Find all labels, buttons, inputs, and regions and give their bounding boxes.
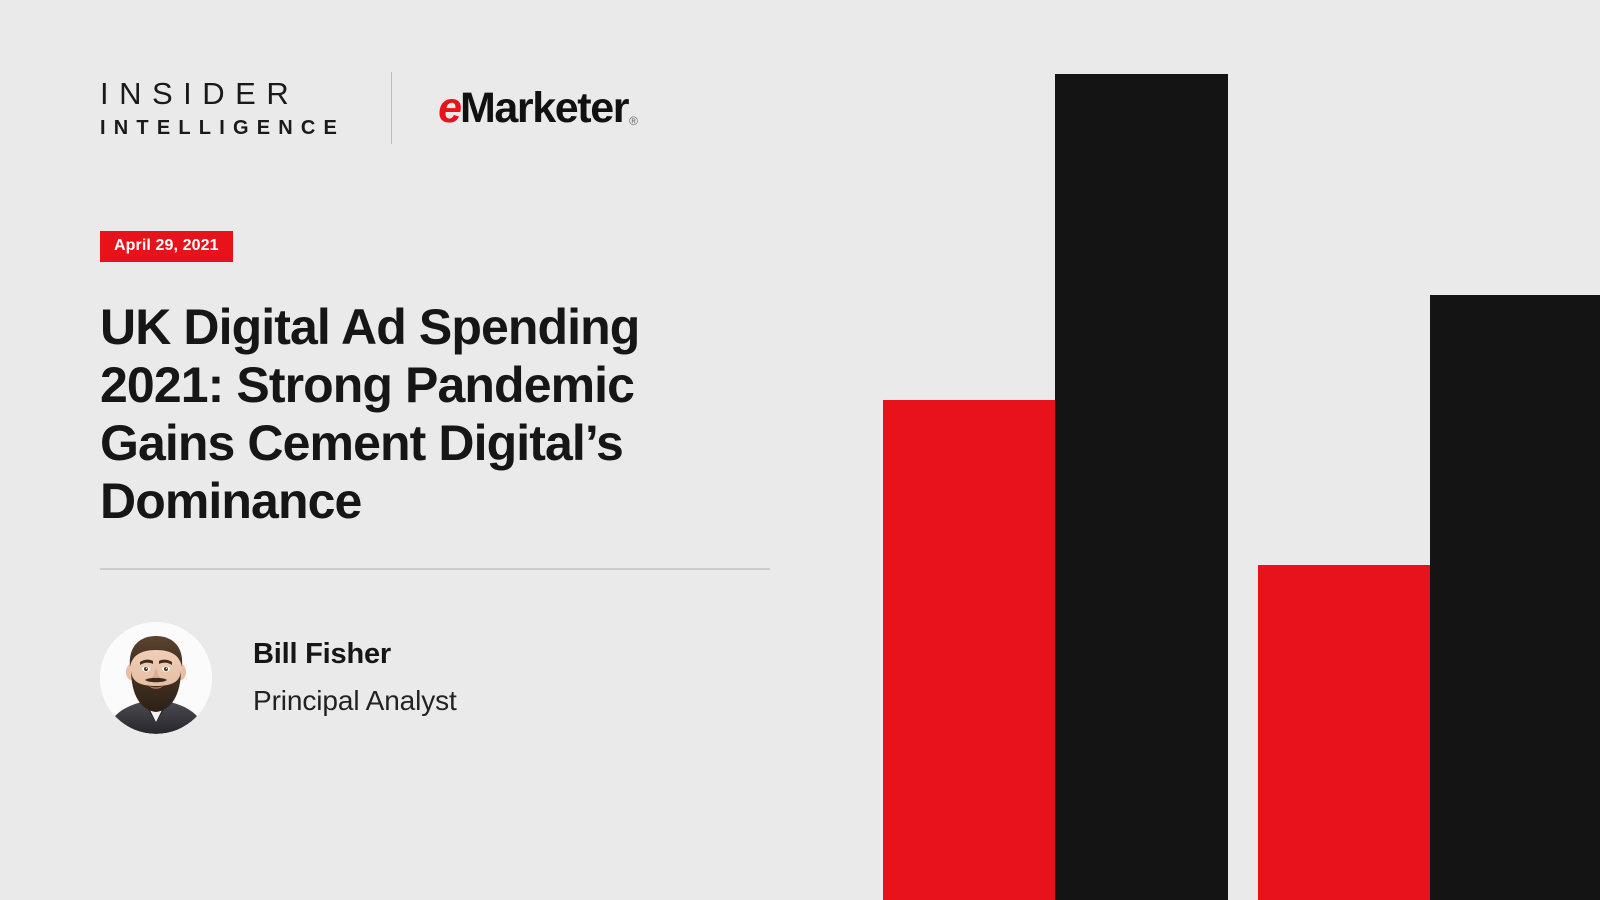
insider-intelligence-logo: INSIDER INTELLIGENCE [100, 78, 345, 138]
emarketer-wordmark: Marketer [460, 87, 628, 130]
slide-canvas: INSIDER INTELLIGENCE eMarketer® April 29… [0, 0, 1600, 900]
chart-bar-1 [883, 400, 1055, 900]
registered-trademark-icon: ® [629, 115, 638, 127]
chart-bar-2 [1055, 74, 1228, 900]
chart-bar-3 [1258, 565, 1430, 900]
author-block: Bill Fisher Principal Analyst [100, 622, 457, 734]
emarketer-logo: eMarketer® [438, 87, 638, 130]
author-name: Bill Fisher [253, 639, 457, 671]
logo-divider [391, 72, 392, 144]
avatar-photo-icon [100, 622, 212, 734]
author-text: Bill Fisher Principal Analyst [253, 639, 457, 717]
content-column: INSIDER INTELLIGENCE eMarketer® April 29… [100, 0, 800, 900]
section-divider [100, 568, 770, 570]
brand-logo-lockup: INSIDER INTELLIGENCE eMarketer® [100, 68, 638, 148]
page-title: UK Digital Ad Spending 2021: Strong Pand… [100, 298, 720, 530]
logo-insider-text: INSIDER [100, 78, 345, 109]
publication-date-badge: April 29, 2021 [100, 231, 233, 262]
author-title: Principal Analyst [253, 686, 457, 717]
emarketer-e-mark: e [438, 87, 460, 130]
chart-bar-4 [1430, 295, 1600, 900]
avatar [100, 622, 212, 734]
logo-intelligence-text: INTELLIGENCE [100, 118, 345, 138]
